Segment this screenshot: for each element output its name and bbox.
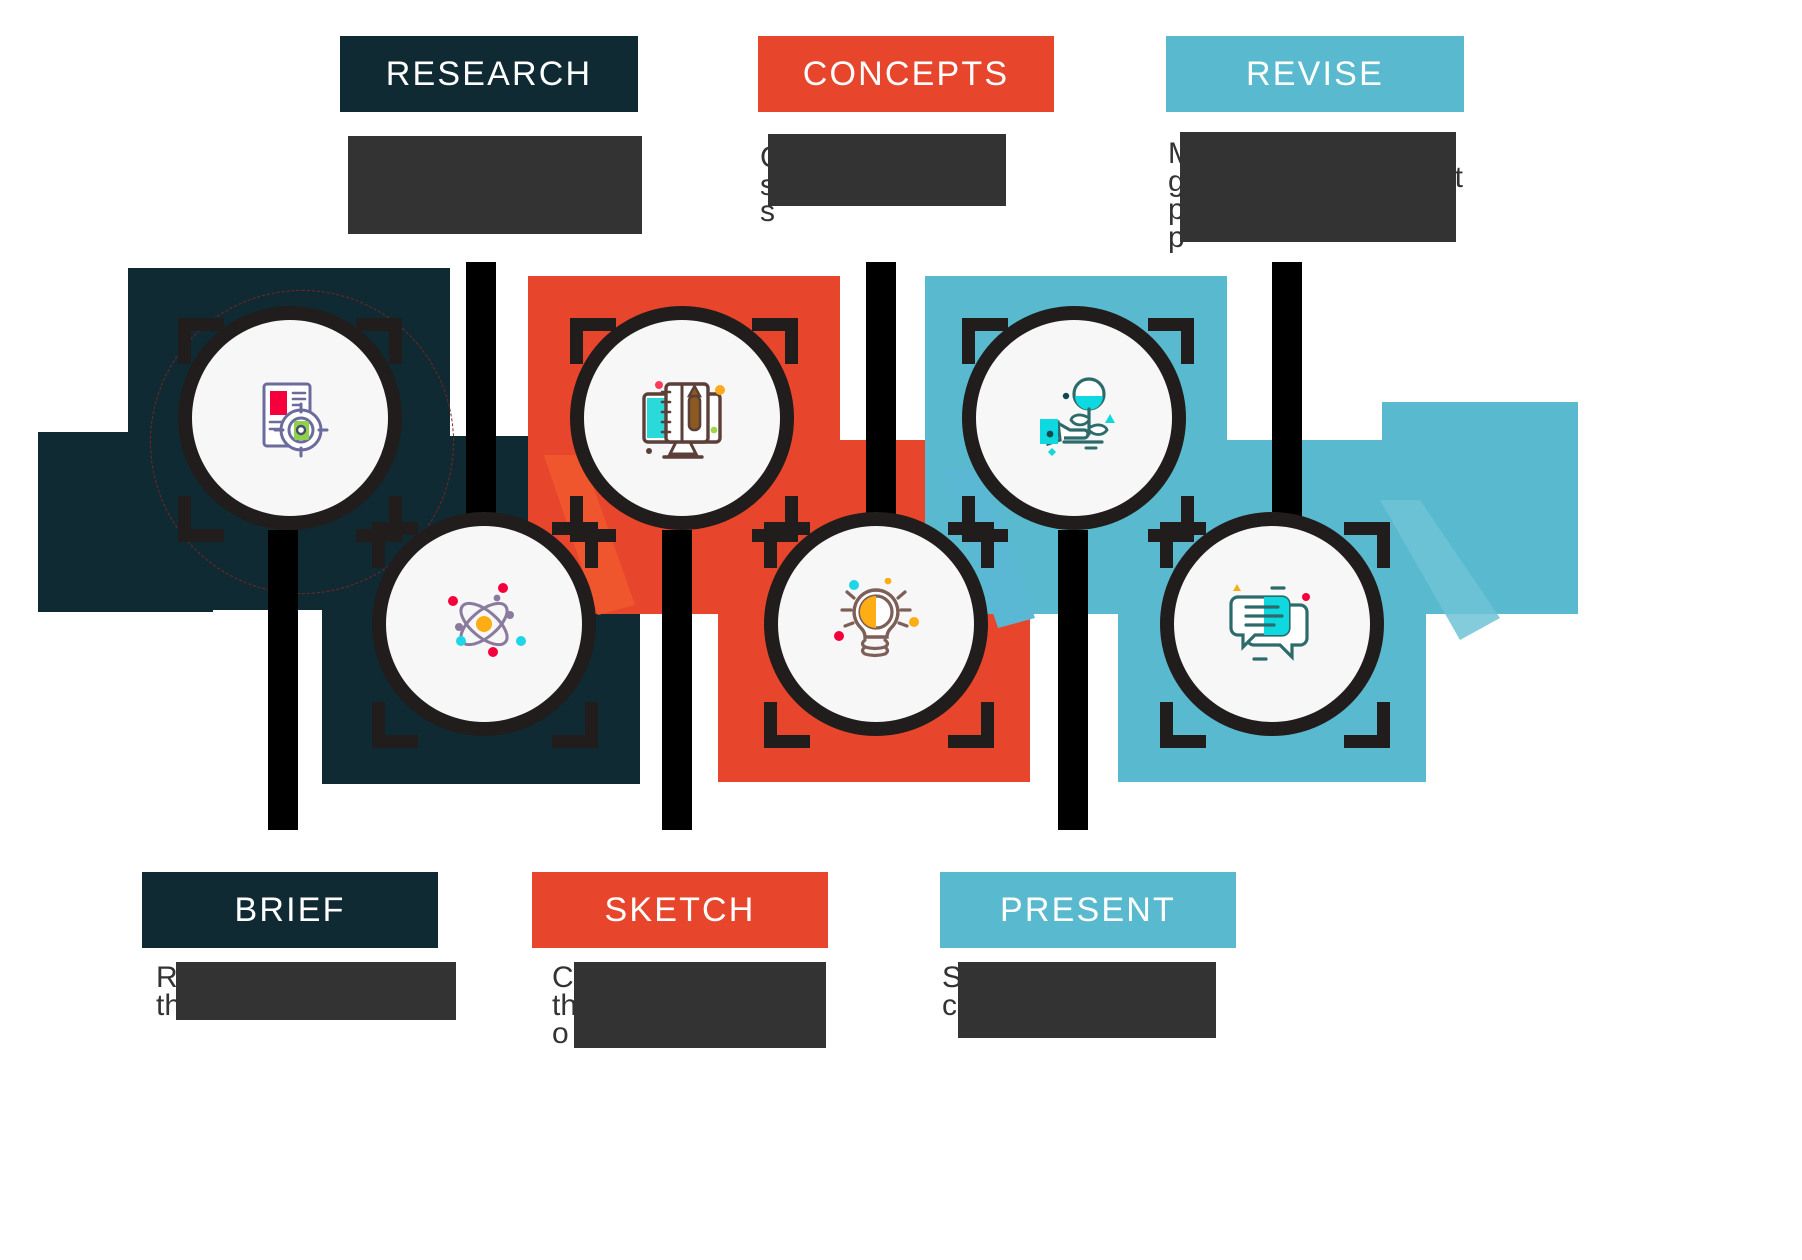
redaction-concepts [768,134,1006,206]
redaction-brief [176,962,456,1020]
monitor-sketchbook-icon [634,372,730,464]
stem-concepts [866,262,896,530]
label-brief: BRIEF [234,893,345,927]
label-bar-concepts[interactable]: CONCEPTS [758,36,1054,112]
badge-revise[interactable] [962,306,1186,530]
redaction-present [958,962,1216,1038]
label-concepts: CONCEPTS [803,57,1010,91]
badge-concepts[interactable] [570,306,794,530]
label-research: RESEARCH [386,57,593,91]
stem-brief [268,530,298,830]
ribbon-blue-right-diagonal [1380,500,1510,640]
document-target-icon [244,372,336,464]
lightbulb-idea-icon [828,578,924,670]
label-present: PRESENT [1000,893,1176,927]
redaction-research [348,136,642,234]
infographic-canvas: RESEARCH CONCEPTS REVISE BRIEF SKETCH PR… [0,0,1802,1260]
chat-bubbles-icon [1224,579,1320,669]
label-bar-sketch[interactable]: SKETCH [532,872,828,948]
corner-bracket-br-present [1344,702,1390,748]
stem-present [1058,530,1088,830]
stem-research [466,262,496,530]
body-sketch-fragment-3: o [552,1014,569,1054]
stem-sketch [662,530,692,830]
badge-research[interactable] [178,306,402,530]
redaction-revise [1180,132,1456,242]
badge-brief[interactable] [372,512,596,736]
stem-revise [1272,262,1302,530]
hand-plant-growth-icon [1026,372,1122,464]
badge-sketch[interactable] [764,512,988,736]
body-present-fragment-2: c [942,986,957,1026]
label-bar-present[interactable]: PRESENT [940,872,1236,948]
label-bar-brief[interactable]: BRIEF [142,872,438,948]
label-bar-research[interactable]: RESEARCH [340,36,638,112]
label-revise: REVISE [1246,57,1384,91]
corner-bracket-br-sketch [948,702,994,748]
label-sketch: SKETCH [604,893,755,927]
badge-present[interactable] [1160,512,1384,736]
label-bar-revise[interactable]: REVISE [1166,36,1464,112]
redaction-sketch [574,962,826,1048]
corner-bracket-br-brief [552,702,598,748]
atom-icon [437,579,531,669]
